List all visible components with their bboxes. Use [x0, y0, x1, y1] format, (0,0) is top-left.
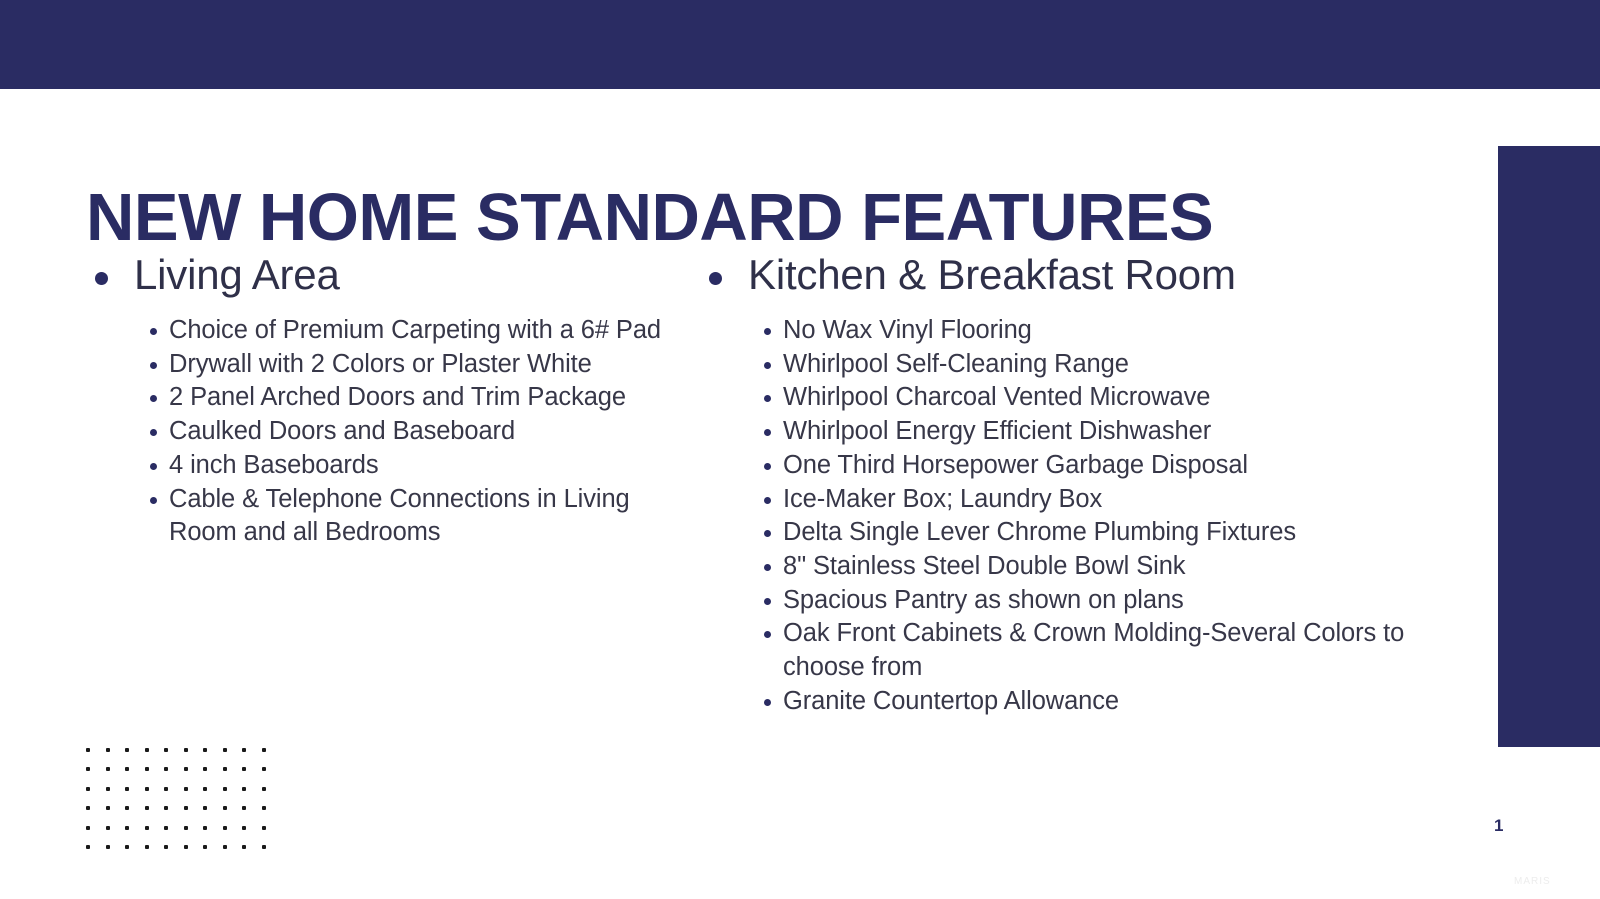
bullet-dot-icon: [150, 463, 157, 470]
list-item-label: One Third Horsepower Garbage Disposal: [783, 451, 1248, 479]
dot: [262, 845, 266, 849]
section-heading-living-area: Living Area: [86, 248, 676, 302]
feature-list-living-area: Choice of Premium Carpeting with a 6# Pa…: [86, 314, 676, 550]
list-item: Delta Single Lever Chrome Plumbing Fixtu…: [764, 516, 1420, 550]
dot: [145, 767, 149, 771]
dot: [106, 748, 110, 752]
dot: [164, 767, 168, 771]
dot: [203, 787, 207, 791]
page-number: 1: [1494, 816, 1503, 836]
dot: [86, 826, 90, 830]
dot: [106, 806, 110, 810]
dot: [125, 806, 129, 810]
list-item: Drywall with 2 Colors or Plaster White: [150, 348, 676, 382]
bullet-dot-icon: [764, 463, 771, 470]
bullet-dot-icon: [764, 497, 771, 504]
section-heading-label: Living Area: [134, 251, 340, 298]
dot: [223, 787, 227, 791]
slide: NEW HOME STANDARD FEATURES Living Area C…: [0, 0, 1600, 899]
dot: [223, 748, 227, 752]
list-item: Choice of Premium Carpeting with a 6# Pa…: [150, 314, 676, 348]
bullet-dot-icon: [150, 429, 157, 436]
bullet-dot-icon: [709, 272, 722, 285]
list-item: Granite Countertop Allowance: [764, 685, 1420, 719]
dot: [86, 806, 90, 810]
dot: [184, 826, 188, 830]
dot: [242, 845, 246, 849]
bullet-dot-icon: [150, 362, 157, 369]
list-item-label: Choice of Premium Carpeting with a 6# Pa…: [169, 316, 661, 344]
dot: [106, 826, 110, 830]
dot: [86, 767, 90, 771]
list-item-label: Caulked Doors and Baseboard: [169, 417, 515, 445]
dot: [86, 748, 90, 752]
dot: [184, 806, 188, 810]
dot: [262, 748, 266, 752]
list-item-label: Oak Front Cabinets & Crown Molding-Sever…: [783, 619, 1404, 681]
bullet-dot-icon: [150, 497, 157, 504]
list-item-label: Granite Countertop Allowance: [783, 687, 1119, 715]
bullet-dot-icon: [764, 598, 771, 605]
dot: [184, 845, 188, 849]
dot: [164, 806, 168, 810]
dot: [262, 767, 266, 771]
dot: [145, 787, 149, 791]
bullet-dot-icon: [150, 395, 157, 402]
dot: [125, 845, 129, 849]
column-living-area: Living Area Choice of Premium Carpeting …: [86, 248, 676, 550]
dot: [125, 787, 129, 791]
list-item-label: Whirlpool Charcoal Vented Microwave: [783, 383, 1210, 411]
list-item-label: Delta Single Lever Chrome Plumbing Fixtu…: [783, 518, 1296, 546]
dot: [223, 845, 227, 849]
list-item-label: 8" Stainless Steel Double Bowl Sink: [783, 552, 1185, 580]
list-item-label: 4 inch Baseboards: [169, 451, 379, 479]
list-item-label: Whirlpool Self-Cleaning Range: [783, 350, 1129, 378]
dot: [242, 826, 246, 830]
list-item-label: 2 Panel Arched Doors and Trim Package: [169, 383, 626, 411]
list-item: Oak Front Cabinets & Crown Molding-Sever…: [764, 617, 1420, 684]
right-navy-block: [1498, 146, 1600, 747]
dot: [203, 845, 207, 849]
dot: [125, 826, 129, 830]
dot: [145, 748, 149, 752]
list-item-label: Spacious Pantry as shown on plans: [783, 586, 1184, 614]
section-heading-label: Kitchen & Breakfast Room: [748, 251, 1236, 298]
dot: [164, 845, 168, 849]
dot: [145, 806, 149, 810]
list-item-label: Cable & Telephone Connections in Living …: [169, 485, 630, 547]
dot: [184, 767, 188, 771]
dot: [164, 826, 168, 830]
list-item: Caulked Doors and Baseboard: [150, 415, 676, 449]
list-item: Whirlpool Charcoal Vented Microwave: [764, 381, 1420, 415]
list-item: Whirlpool Energy Efficient Dishwasher: [764, 415, 1420, 449]
dot: [184, 787, 188, 791]
list-item: 8" Stainless Steel Double Bowl Sink: [764, 550, 1420, 584]
column-kitchen-breakfast-room: Kitchen & Breakfast Room No Wax Vinyl Fl…: [700, 248, 1420, 718]
bullet-dot-icon: [764, 564, 771, 571]
dot: [262, 787, 266, 791]
section-heading-kitchen-breakfast-room: Kitchen & Breakfast Room: [700, 248, 1420, 302]
dot: [86, 845, 90, 849]
decorative-dot-grid: [86, 748, 281, 864]
dot: [223, 826, 227, 830]
top-navy-band: [0, 0, 1600, 89]
dot: [86, 787, 90, 791]
bullet-dot-icon: [150, 328, 157, 335]
dot: [106, 845, 110, 849]
dot: [164, 748, 168, 752]
page-title: NEW HOME STANDARD FEATURES: [86, 184, 1213, 251]
list-item: Ice-Maker Box; Laundry Box: [764, 483, 1420, 517]
list-item-label: Whirlpool Energy Efficient Dishwasher: [783, 417, 1211, 445]
list-item: 2 Panel Arched Doors and Trim Package: [150, 381, 676, 415]
list-item: Cable & Telephone Connections in Living …: [150, 483, 676, 550]
dot: [184, 748, 188, 752]
dot: [203, 748, 207, 752]
dot: [106, 787, 110, 791]
bullet-dot-icon: [95, 272, 108, 285]
dot: [242, 787, 246, 791]
list-item-label: No Wax Vinyl Flooring: [783, 316, 1032, 344]
dot: [145, 845, 149, 849]
list-item-label: Drywall with 2 Colors or Plaster White: [169, 350, 592, 378]
dot: [125, 767, 129, 771]
list-item-label: Ice-Maker Box; Laundry Box: [783, 485, 1102, 513]
watermark: MARIS: [1514, 876, 1551, 887]
bullet-dot-icon: [764, 328, 771, 335]
list-item: No Wax Vinyl Flooring: [764, 314, 1420, 348]
dot: [106, 767, 110, 771]
dot: [125, 748, 129, 752]
dot: [164, 787, 168, 791]
dot: [203, 826, 207, 830]
bullet-dot-icon: [764, 530, 771, 537]
dot: [242, 806, 246, 810]
dot: [223, 767, 227, 771]
dot: [242, 767, 246, 771]
list-item: Whirlpool Self-Cleaning Range: [764, 348, 1420, 382]
dot: [145, 826, 149, 830]
list-item: 4 inch Baseboards: [150, 449, 676, 483]
dot: [262, 806, 266, 810]
bullet-dot-icon: [764, 362, 771, 369]
list-item: Spacious Pantry as shown on plans: [764, 584, 1420, 618]
feature-list-kitchen-breakfast-room: No Wax Vinyl Flooring Whirlpool Self-Cle…: [700, 314, 1420, 718]
dot: [203, 806, 207, 810]
dot: [203, 767, 207, 771]
bullet-dot-icon: [764, 395, 771, 402]
bullet-dot-icon: [764, 631, 771, 638]
bullet-dot-icon: [764, 429, 771, 436]
bullet-dot-icon: [764, 699, 771, 706]
dot: [242, 748, 246, 752]
dot: [223, 806, 227, 810]
list-item: One Third Horsepower Garbage Disposal: [764, 449, 1420, 483]
dot: [262, 826, 266, 830]
